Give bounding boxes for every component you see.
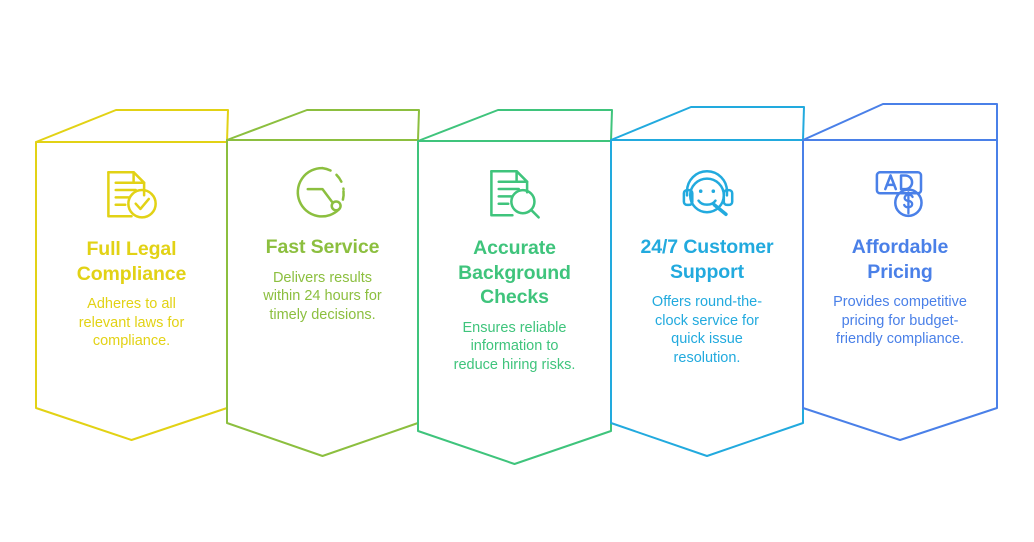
banner-description-accurate-background-checks: Ensures reliableinformation toreduce hir… [424, 310, 605, 375]
banner-description-affordable-pricing: Provides competitivepricing for budget-f… [809, 284, 991, 349]
banner-ribbon-fold-customer-support [611, 107, 804, 140]
banner-title-fast-service: Fast Service [233, 235, 412, 260]
infographic-root: Full LegalComplianceAdheres to allreleva… [0, 0, 1034, 542]
banner-card-affordable-pricing[interactable]: AffordablePricingProvides competitivepri… [809, 235, 991, 349]
banner-card-full-legal-compliance[interactable]: Full LegalComplianceAdheres to allreleva… [42, 237, 221, 351]
banner-title-full-legal-compliance: Full LegalCompliance [42, 237, 221, 286]
banner-card-accurate-background-checks[interactable]: AccurateBackgroundChecksEnsures reliable… [424, 236, 605, 374]
banner-description-full-legal-compliance: Adheres to allrelevant laws forcomplianc… [42, 286, 221, 351]
banner-description-customer-support: Offers round-the-clock service forquick … [617, 284, 797, 367]
banner-title-customer-support: 24/7 CustomerSupport [617, 235, 797, 284]
banner-card-fast-service[interactable]: Fast ServiceDelivers resultswithin 24 ho… [233, 235, 412, 324]
banner-title-accurate-background-checks: AccurateBackgroundChecks [424, 236, 605, 310]
banner-ribbon-fold-affordable-pricing [803, 104, 997, 140]
banner-ribbon-fold-fast-service [227, 110, 419, 140]
banner-description-fast-service: Delivers resultswithin 24 hours fortimel… [233, 260, 412, 325]
banner-ribbon-fold-accurate-background-checks [418, 110, 612, 141]
banner-ribbon-fold-full-legal-compliance [36, 110, 228, 142]
banner-card-customer-support[interactable]: 24/7 CustomerSupportOffers round-the-clo… [617, 235, 797, 367]
ribbon-fold-group [36, 104, 997, 142]
banner-title-affordable-pricing: AffordablePricing [809, 235, 991, 284]
